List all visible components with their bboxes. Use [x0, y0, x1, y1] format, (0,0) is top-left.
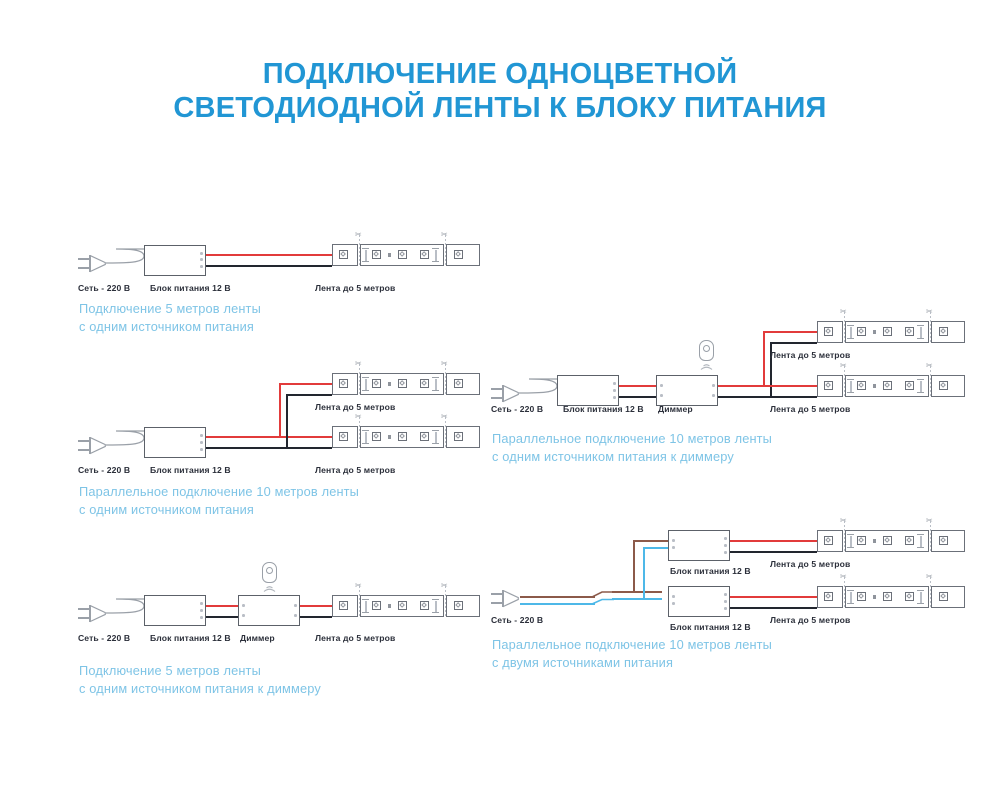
psu-terminal — [724, 537, 727, 540]
wire-bend — [592, 590, 616, 612]
cut-mark-icon: ✂ — [926, 573, 933, 581]
caption-line-2: с двумя источниками питания — [492, 654, 772, 672]
psu-terminal — [672, 546, 675, 549]
wire-negative — [730, 607, 817, 609]
wire-phase — [612, 591, 662, 593]
cut-mark-icon: ✂ — [926, 517, 933, 525]
wire-neutral — [612, 598, 662, 600]
cut-mark-icon: ✂ — [840, 573, 847, 581]
psu-terminal — [724, 600, 727, 603]
strip-label: Лента до 5 метров — [770, 559, 850, 569]
strip-label: Лента до 5 метров — [770, 615, 850, 625]
psu-terminal — [724, 607, 727, 610]
wire-phase-riser — [633, 540, 635, 592]
wire-negative — [730, 551, 817, 553]
led-strip: ✂ ✂ — [817, 586, 965, 608]
scheme-5-caption: Параллельное подключение 10 метров ленты… — [492, 636, 772, 672]
psu-terminal — [724, 551, 727, 554]
mains-label: Сеть - 220 В — [491, 615, 543, 625]
cut-mark-icon: ✂ — [840, 517, 847, 525]
wire-neutral-riser — [643, 547, 645, 599]
wire-positive — [730, 596, 817, 598]
psu-terminal — [724, 593, 727, 596]
psu-terminal — [672, 595, 675, 598]
wire-phase — [633, 540, 668, 542]
wire-positive — [730, 540, 817, 542]
scheme-5-diagram: ✂ ✂ Лента до 5 метров Блок питания 12 В … — [0, 0, 1000, 800]
led-strip: ✂ ✂ — [817, 530, 965, 552]
plug-body-icon — [503, 590, 521, 608]
wire-neutral — [520, 603, 595, 605]
power-supply-box — [668, 530, 730, 561]
wire-neutral — [643, 547, 668, 549]
psu-label: Блок питания 12 В — [670, 622, 751, 632]
psu-terminal — [672, 602, 675, 605]
psu-terminal — [672, 539, 675, 542]
power-supply-box — [668, 586, 730, 617]
wire-phase — [520, 596, 595, 598]
psu-terminal — [724, 544, 727, 547]
caption-line-1: Параллельное подключение 10 метров ленты — [492, 636, 772, 654]
psu-label: Блок питания 12 В — [670, 566, 751, 576]
